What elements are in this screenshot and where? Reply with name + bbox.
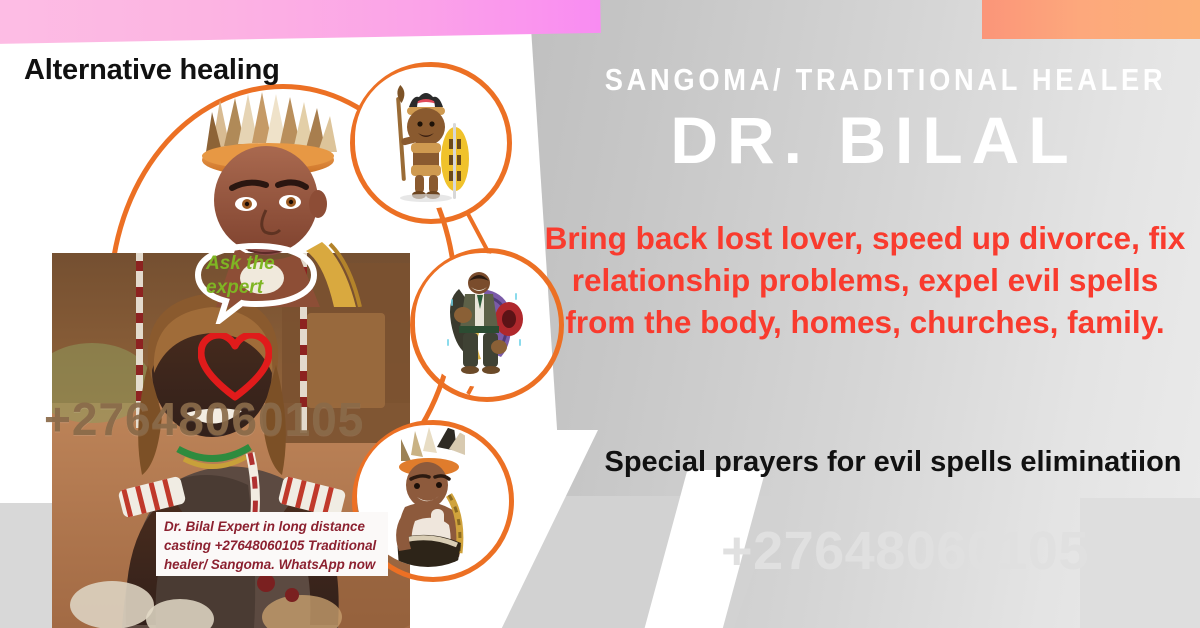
caption-line-1: Dr. Bilal Expert in long distance <box>164 517 382 536</box>
special-prayers-text: Special prayers for evil spells eliminat… <box>600 444 1186 482</box>
flyer-canvas: Alternative healing <box>0 0 1200 628</box>
heart-icon <box>198 333 272 401</box>
top-orange-band <box>982 0 1200 39</box>
photo-watermark-phone: +27648060105 <box>44 392 364 446</box>
healer-name: DR. BILAL <box>568 104 1180 177</box>
caption-line-2: casting +27648060105 Traditional <box>164 536 382 555</box>
services-text: Bring back lost lover, speed up divorce,… <box>540 218 1190 344</box>
photo-caption: Dr. Bilal Expert in long distance castin… <box>156 512 388 576</box>
kicker-text: SANGOMA/ TRADITIONAL HEALER <box>605 62 1144 98</box>
page-title: Alternative healing <box>24 54 280 87</box>
background-watermark-phone: +27648060105 <box>620 520 1190 582</box>
circle-healer-with-cloak <box>415 253 549 387</box>
caption-line-3: healer/ Sangoma. WhatsApp now <box>164 555 382 574</box>
circle-zulu-warrior-cartoon <box>355 67 497 209</box>
top-pink-band <box>0 0 601 44</box>
bottom-left-grey-block <box>0 503 56 628</box>
speech-bubble-text: Ask the expert <box>206 252 316 300</box>
